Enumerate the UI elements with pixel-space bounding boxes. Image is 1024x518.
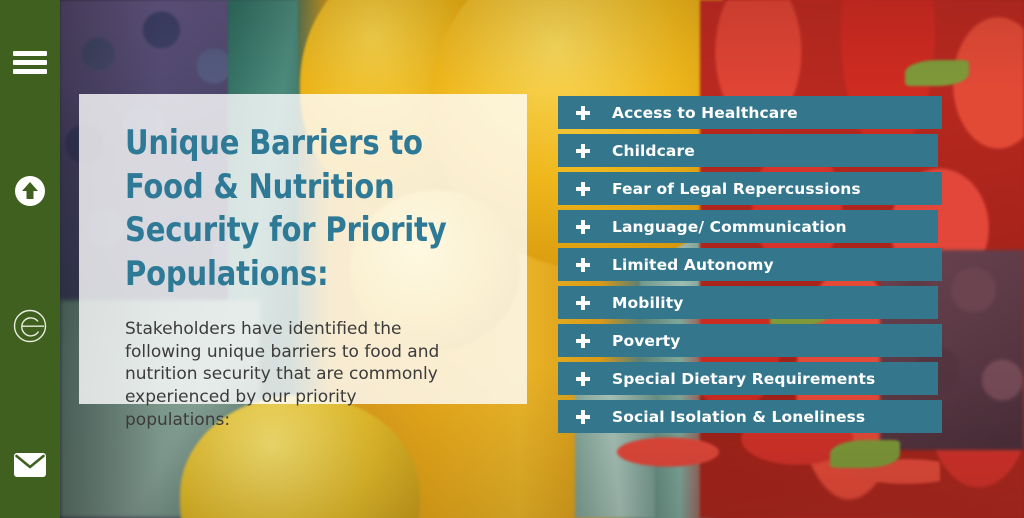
accordion-item-label: Limited Autonomy — [612, 256, 774, 274]
accordion-item-label: Childcare — [612, 142, 695, 160]
plus-icon — [576, 296, 590, 310]
accordion-item-language-communication[interactable]: Language/ Communication — [558, 210, 938, 243]
plus-icon — [576, 144, 590, 158]
page-root: Unique Barriers to Food & Nutrition Secu… — [0, 0, 1024, 518]
contact-email-button[interactable] — [0, 437, 60, 497]
accordion-item-label: Language/ Communication — [612, 218, 847, 236]
accordion-item-label: Special Dietary Requirements — [612, 370, 875, 388]
plus-icon — [576, 182, 590, 196]
accordion-item-label: Mobility — [612, 294, 683, 312]
page-title: Unique Barriers to Food & Nutrition Secu… — [125, 122, 478, 296]
hamburger-menu-button[interactable] — [0, 32, 60, 92]
plus-icon — [576, 334, 590, 348]
envelope-icon — [13, 451, 47, 484]
accordion-item-access-to-healthcare[interactable]: Access to Healthcare — [558, 96, 942, 129]
arrow-up-circle-icon — [13, 174, 47, 213]
stylized-e-logo-icon — [12, 308, 48, 349]
accordion-item-special-dietary-requirements[interactable]: Special Dietary Requirements — [558, 362, 938, 395]
plus-icon — [576, 220, 590, 234]
intro-card: Unique Barriers to Food & Nutrition Secu… — [79, 94, 527, 404]
accordion-item-label: Access to Healthcare — [612, 104, 798, 122]
accordion-item-label: Poverty — [612, 332, 680, 350]
left-sidebar — [0, 0, 60, 518]
plus-icon — [576, 258, 590, 272]
accordion-item-mobility[interactable]: Mobility — [558, 286, 938, 319]
accordion-item-label: Social Isolation & Loneliness — [612, 408, 865, 426]
intro-paragraph: Stakeholders have identified the followi… — [125, 318, 465, 431]
accordion-item-label: Fear of Legal Repercussions — [612, 180, 861, 198]
plus-icon — [576, 410, 590, 424]
accordion-item-social-isolation-loneliness[interactable]: Social Isolation & Loneliness — [558, 400, 942, 433]
plus-icon — [576, 106, 590, 120]
hamburger-menu-icon — [13, 47, 47, 78]
accordion-item-childcare[interactable]: Childcare — [558, 134, 938, 167]
scroll-to-top-button[interactable] — [0, 163, 60, 223]
accordion-item-poverty[interactable]: Poverty — [558, 324, 942, 357]
brand-logo-button[interactable] — [0, 298, 60, 358]
barriers-accordion: Access to Healthcare Childcare Fear of L… — [558, 96, 944, 438]
plus-icon — [576, 372, 590, 386]
accordion-item-fear-of-legal-repercussions[interactable]: Fear of Legal Repercussions — [558, 172, 942, 205]
accordion-item-limited-autonomy[interactable]: Limited Autonomy — [558, 248, 942, 281]
